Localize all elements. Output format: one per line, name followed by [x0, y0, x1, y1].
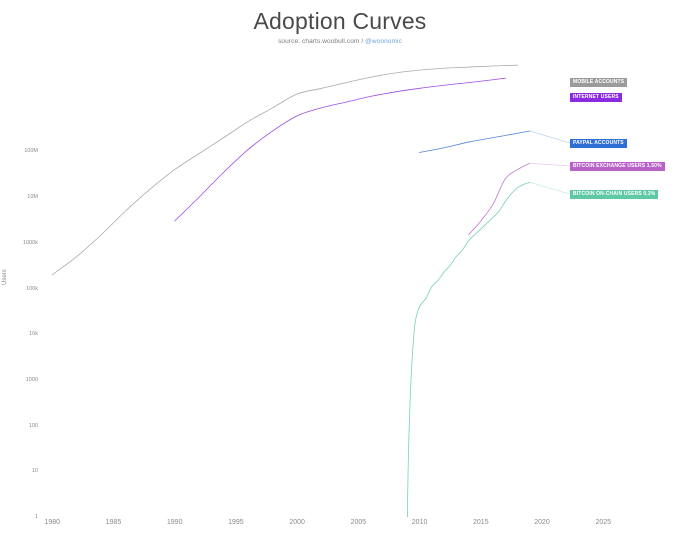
- source-text: source: charts.woobull.com /: [278, 38, 365, 45]
- legend-leader-onchain: [530, 182, 570, 194]
- y-tick-label: 100k: [26, 285, 38, 293]
- chart-plot-area: [40, 60, 640, 517]
- x-tick-label: 2005: [351, 519, 367, 526]
- legend-badge-internet[interactable]: INTERNET USERS: [570, 93, 622, 102]
- x-tick-label: 1990: [167, 519, 183, 526]
- legend-leader-exchange: [530, 163, 570, 166]
- y-tick-label: 100: [29, 422, 38, 430]
- y-tick-label: 1000k: [23, 239, 38, 247]
- x-tick-label: 2025: [595, 519, 611, 526]
- series-line-paypal-accounts: [420, 131, 530, 152]
- y-tick-label: 100M: [24, 147, 38, 155]
- legend-badge-mobile[interactable]: MOBILE ACCOUNTS: [570, 78, 627, 87]
- y-tick-label: 10k: [29, 330, 38, 338]
- legend-badge-paypal[interactable]: PAYPAL ACCOUNTS: [570, 139, 627, 148]
- page-title: Adoption Curves: [0, 8, 680, 35]
- y-axis: 110100100010k100k1000k10M100M: [0, 60, 38, 517]
- x-tick-label: 2015: [473, 519, 489, 526]
- x-tick-label: 2010: [412, 519, 428, 526]
- series-line-bitcoin-exchange-users: [469, 163, 530, 234]
- legend-badge-onchain[interactable]: BITCOIN ON-CHAIN USERS 0.3%: [570, 190, 658, 199]
- x-tick-label: 1985: [106, 519, 122, 526]
- x-tick-label: 1980: [44, 519, 60, 526]
- chart-source-subtitle: source: charts.woobull.com / @woonomic: [0, 38, 680, 45]
- x-tick-label: 2000: [289, 519, 305, 526]
- x-axis: 1980198519901995200020052010201520202025: [40, 519, 640, 539]
- series-line-bitcoin-on-chain-users: [407, 182, 529, 517]
- x-tick-label: 1995: [228, 519, 244, 526]
- series-line-mobile-accounts: [52, 65, 517, 275]
- y-tick-label: 10: [32, 467, 38, 475]
- chart-canvas: [40, 60, 640, 517]
- y-tick-label: 10M: [27, 193, 38, 201]
- legend-leader-paypal: [530, 131, 570, 143]
- legend-badge-exchange[interactable]: BITCOIN EXCHANGE USERS 1.50%: [570, 162, 665, 171]
- series-line-internet-users: [175, 78, 506, 221]
- x-tick-label: 2020: [534, 519, 550, 526]
- y-tick-label: 1: [35, 513, 38, 521]
- y-tick-label: 1000: [26, 376, 38, 384]
- source-handle-link[interactable]: @woonomic: [365, 38, 402, 45]
